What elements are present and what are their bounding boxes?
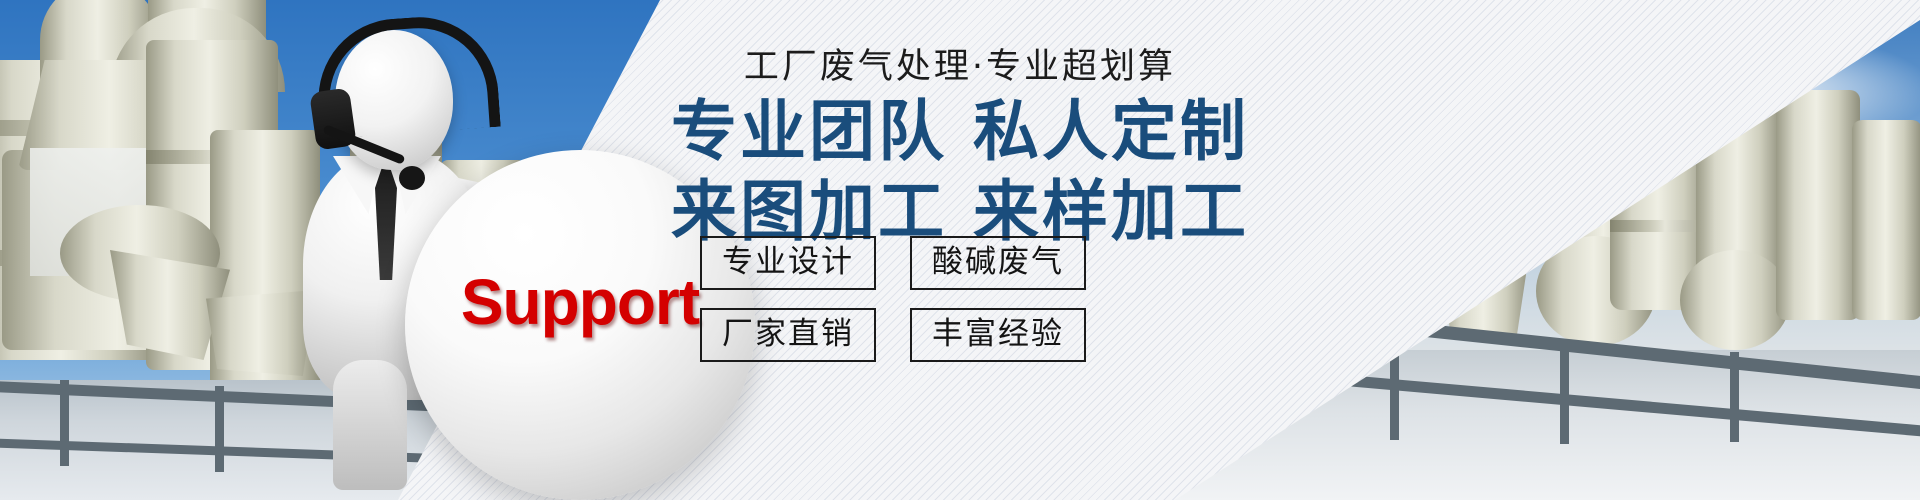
feature-box-4[interactable]: 丰富经验 [910, 308, 1086, 362]
feature-box-2[interactable]: 酸碱废气 [910, 236, 1086, 290]
feature-box-group: 专业设计 酸碱废气 厂家直销 丰富经验 [700, 236, 1100, 362]
feature-box-1[interactable]: 专业设计 [700, 236, 876, 290]
blower-housing-r3 [1680, 250, 1790, 350]
support-wordmark: Support [440, 265, 720, 339]
feature-box-3[interactable]: 厂家直销 [700, 308, 876, 362]
promo-banner: Support 工厂废气处理·专业超划算 专业团队 私人定制 来图加工 来样加工… [0, 0, 1920, 500]
rail-post [215, 386, 224, 472]
tagline: 工厂废气处理·专业超划算 [640, 38, 1280, 89]
duct-band [1610, 220, 1710, 232]
headset-mic-tip-icon [399, 166, 425, 190]
scrubber-tower-r5 [1776, 90, 1860, 320]
scrubber-tower-r6 [1852, 120, 1920, 320]
rail-post [1730, 352, 1739, 442]
headline-block: 工厂废气处理·专业超划算 专业团队 私人定制 来图加工 来样加工 [640, 38, 1280, 249]
rail-post [60, 380, 69, 466]
rail-post [1560, 348, 1569, 444]
mannequin-leg [333, 360, 407, 490]
headline-line-1: 专业团队 私人定制 [640, 95, 1280, 169]
